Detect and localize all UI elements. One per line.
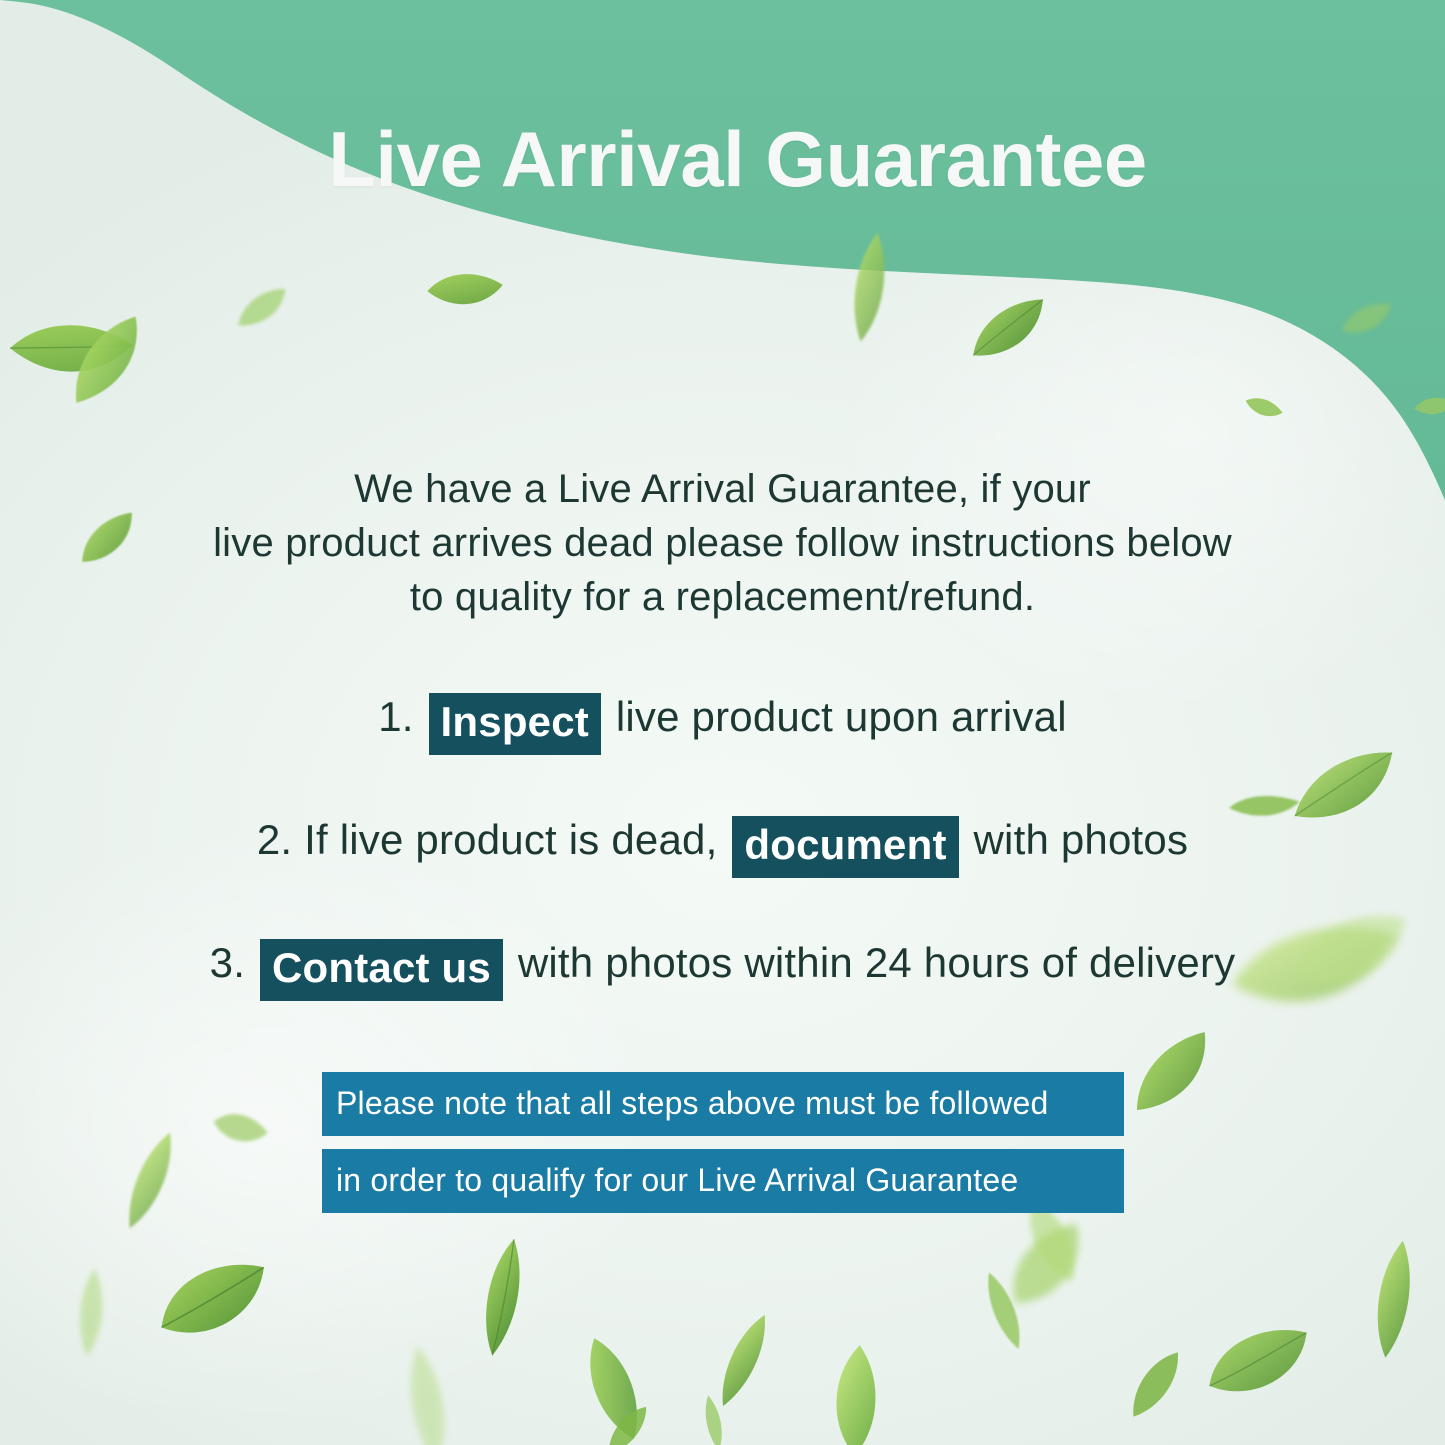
intro-line-3: to quality for a replacement/refund.	[0, 570, 1445, 624]
step-item-1: 1. Inspect live product upon arrival	[0, 685, 1445, 755]
intro-line-2: live product arrives dead please follow …	[0, 516, 1445, 570]
step-highlight-document: document	[732, 816, 958, 878]
step-number-1: 1.	[378, 693, 413, 740]
step-highlight-inspect: Inspect	[429, 693, 601, 755]
step-number-2: 2.	[257, 816, 292, 863]
step-before-2: If live product is dead,	[292, 816, 729, 863]
step-number-3: 3.	[210, 939, 245, 986]
step-after-2: with photos	[962, 816, 1189, 863]
note-bar-line-1: Please note that all steps above must be…	[322, 1072, 1124, 1136]
main-content: We have a Live Arrival Guarantee, if you…	[0, 0, 1445, 1445]
step-after-3: with photos within 24 hours of delivery	[506, 939, 1235, 986]
note-bar-line-2: in order to qualify for our Live Arrival…	[322, 1149, 1124, 1213]
step-item-3: 3. Contact us with photos within 24 hour…	[0, 931, 1445, 1001]
notes-block: Please note that all steps above must be…	[322, 1072, 1124, 1213]
step-after-1: live product upon arrival	[604, 693, 1067, 740]
steps-list: 1. Inspect live product upon arrival 2. …	[0, 685, 1445, 1001]
live-arrival-guarantee-poster: Live Arrival Guarantee	[0, 0, 1445, 1445]
intro-line-1: We have a Live Arrival Guarantee, if you…	[0, 462, 1445, 516]
step-highlight-contact-us: Contact us	[260, 939, 503, 1001]
step-item-2: 2. If live product is dead, document wit…	[0, 808, 1445, 878]
intro-paragraph: We have a Live Arrival Guarantee, if you…	[0, 462, 1445, 624]
